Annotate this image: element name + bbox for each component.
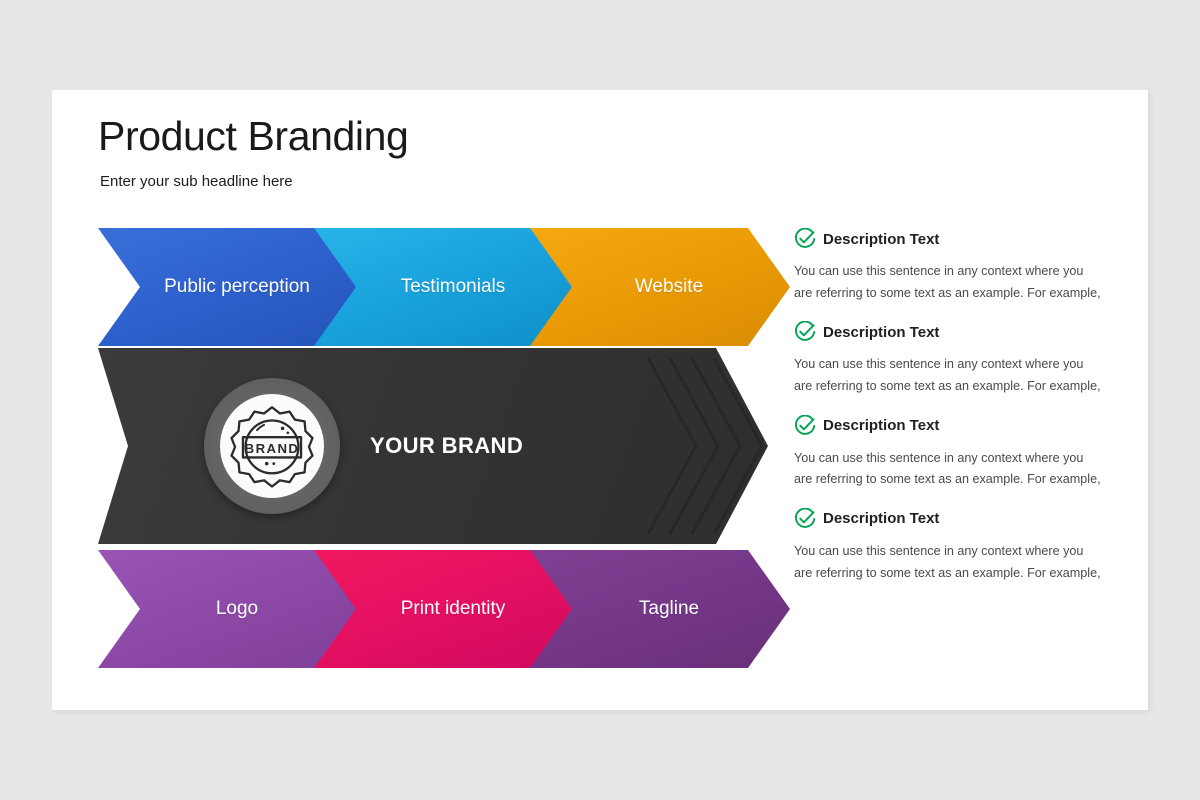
- brand-seal-icon: BRAND: [228, 402, 316, 490]
- chevron-label: Website: [617, 275, 703, 299]
- description-title: Description Text: [823, 231, 939, 248]
- description-body: You can use this sentence in any context…: [794, 354, 1102, 397]
- description-title: Description Text: [823, 510, 939, 527]
- description-body: You can use this sentence in any context…: [794, 448, 1102, 491]
- description-header: Description Text: [794, 228, 1114, 250]
- chevron-accent-lines-icon: [638, 348, 768, 544]
- description-item: Description Text You can use this senten…: [794, 228, 1114, 304]
- chevron-public-perception[interactable]: Public perception: [98, 228, 358, 346]
- description-item: Description Text You can use this senten…: [794, 321, 1114, 397]
- description-item: Description Text You can use this senten…: [794, 415, 1114, 491]
- page-subtitle: Enter your sub headline here: [100, 173, 293, 190]
- brand-badge-label: BRAND: [245, 441, 300, 456]
- chevron-label: Print identity: [383, 597, 506, 621]
- description-title: Description Text: [823, 324, 939, 341]
- description-header: Description Text: [794, 415, 1114, 437]
- chevron-label: Testimonials: [383, 275, 506, 299]
- slide-canvas: Product Branding Enter your sub headline…: [52, 90, 1148, 710]
- description-title: Description Text: [823, 417, 939, 434]
- brand-band[interactable]: BRAND YOUR BRAND: [98, 348, 768, 544]
- chevron-logo[interactable]: Logo: [98, 550, 358, 668]
- description-list: Description Text You can use this senten…: [794, 228, 1114, 601]
- brand-title: YOUR BRAND: [370, 348, 523, 544]
- chevron-label: Public perception: [146, 275, 310, 299]
- check-circle-icon: [794, 321, 816, 343]
- chevron-label: Tagline: [621, 597, 699, 621]
- description-header: Description Text: [794, 508, 1114, 530]
- check-circle-icon: [794, 415, 816, 437]
- page-title: Product Branding: [98, 113, 408, 160]
- description-item: Description Text You can use this senten…: [794, 508, 1114, 584]
- description-header: Description Text: [794, 321, 1114, 343]
- check-circle-icon: [794, 228, 816, 250]
- chevron-label: Logo: [198, 597, 258, 621]
- check-circle-icon: [794, 508, 816, 530]
- description-body: You can use this sentence in any context…: [794, 541, 1102, 584]
- brand-badge-inner: BRAND: [220, 394, 324, 498]
- description-body: You can use this sentence in any context…: [794, 261, 1102, 304]
- brand-badge: BRAND: [204, 378, 340, 514]
